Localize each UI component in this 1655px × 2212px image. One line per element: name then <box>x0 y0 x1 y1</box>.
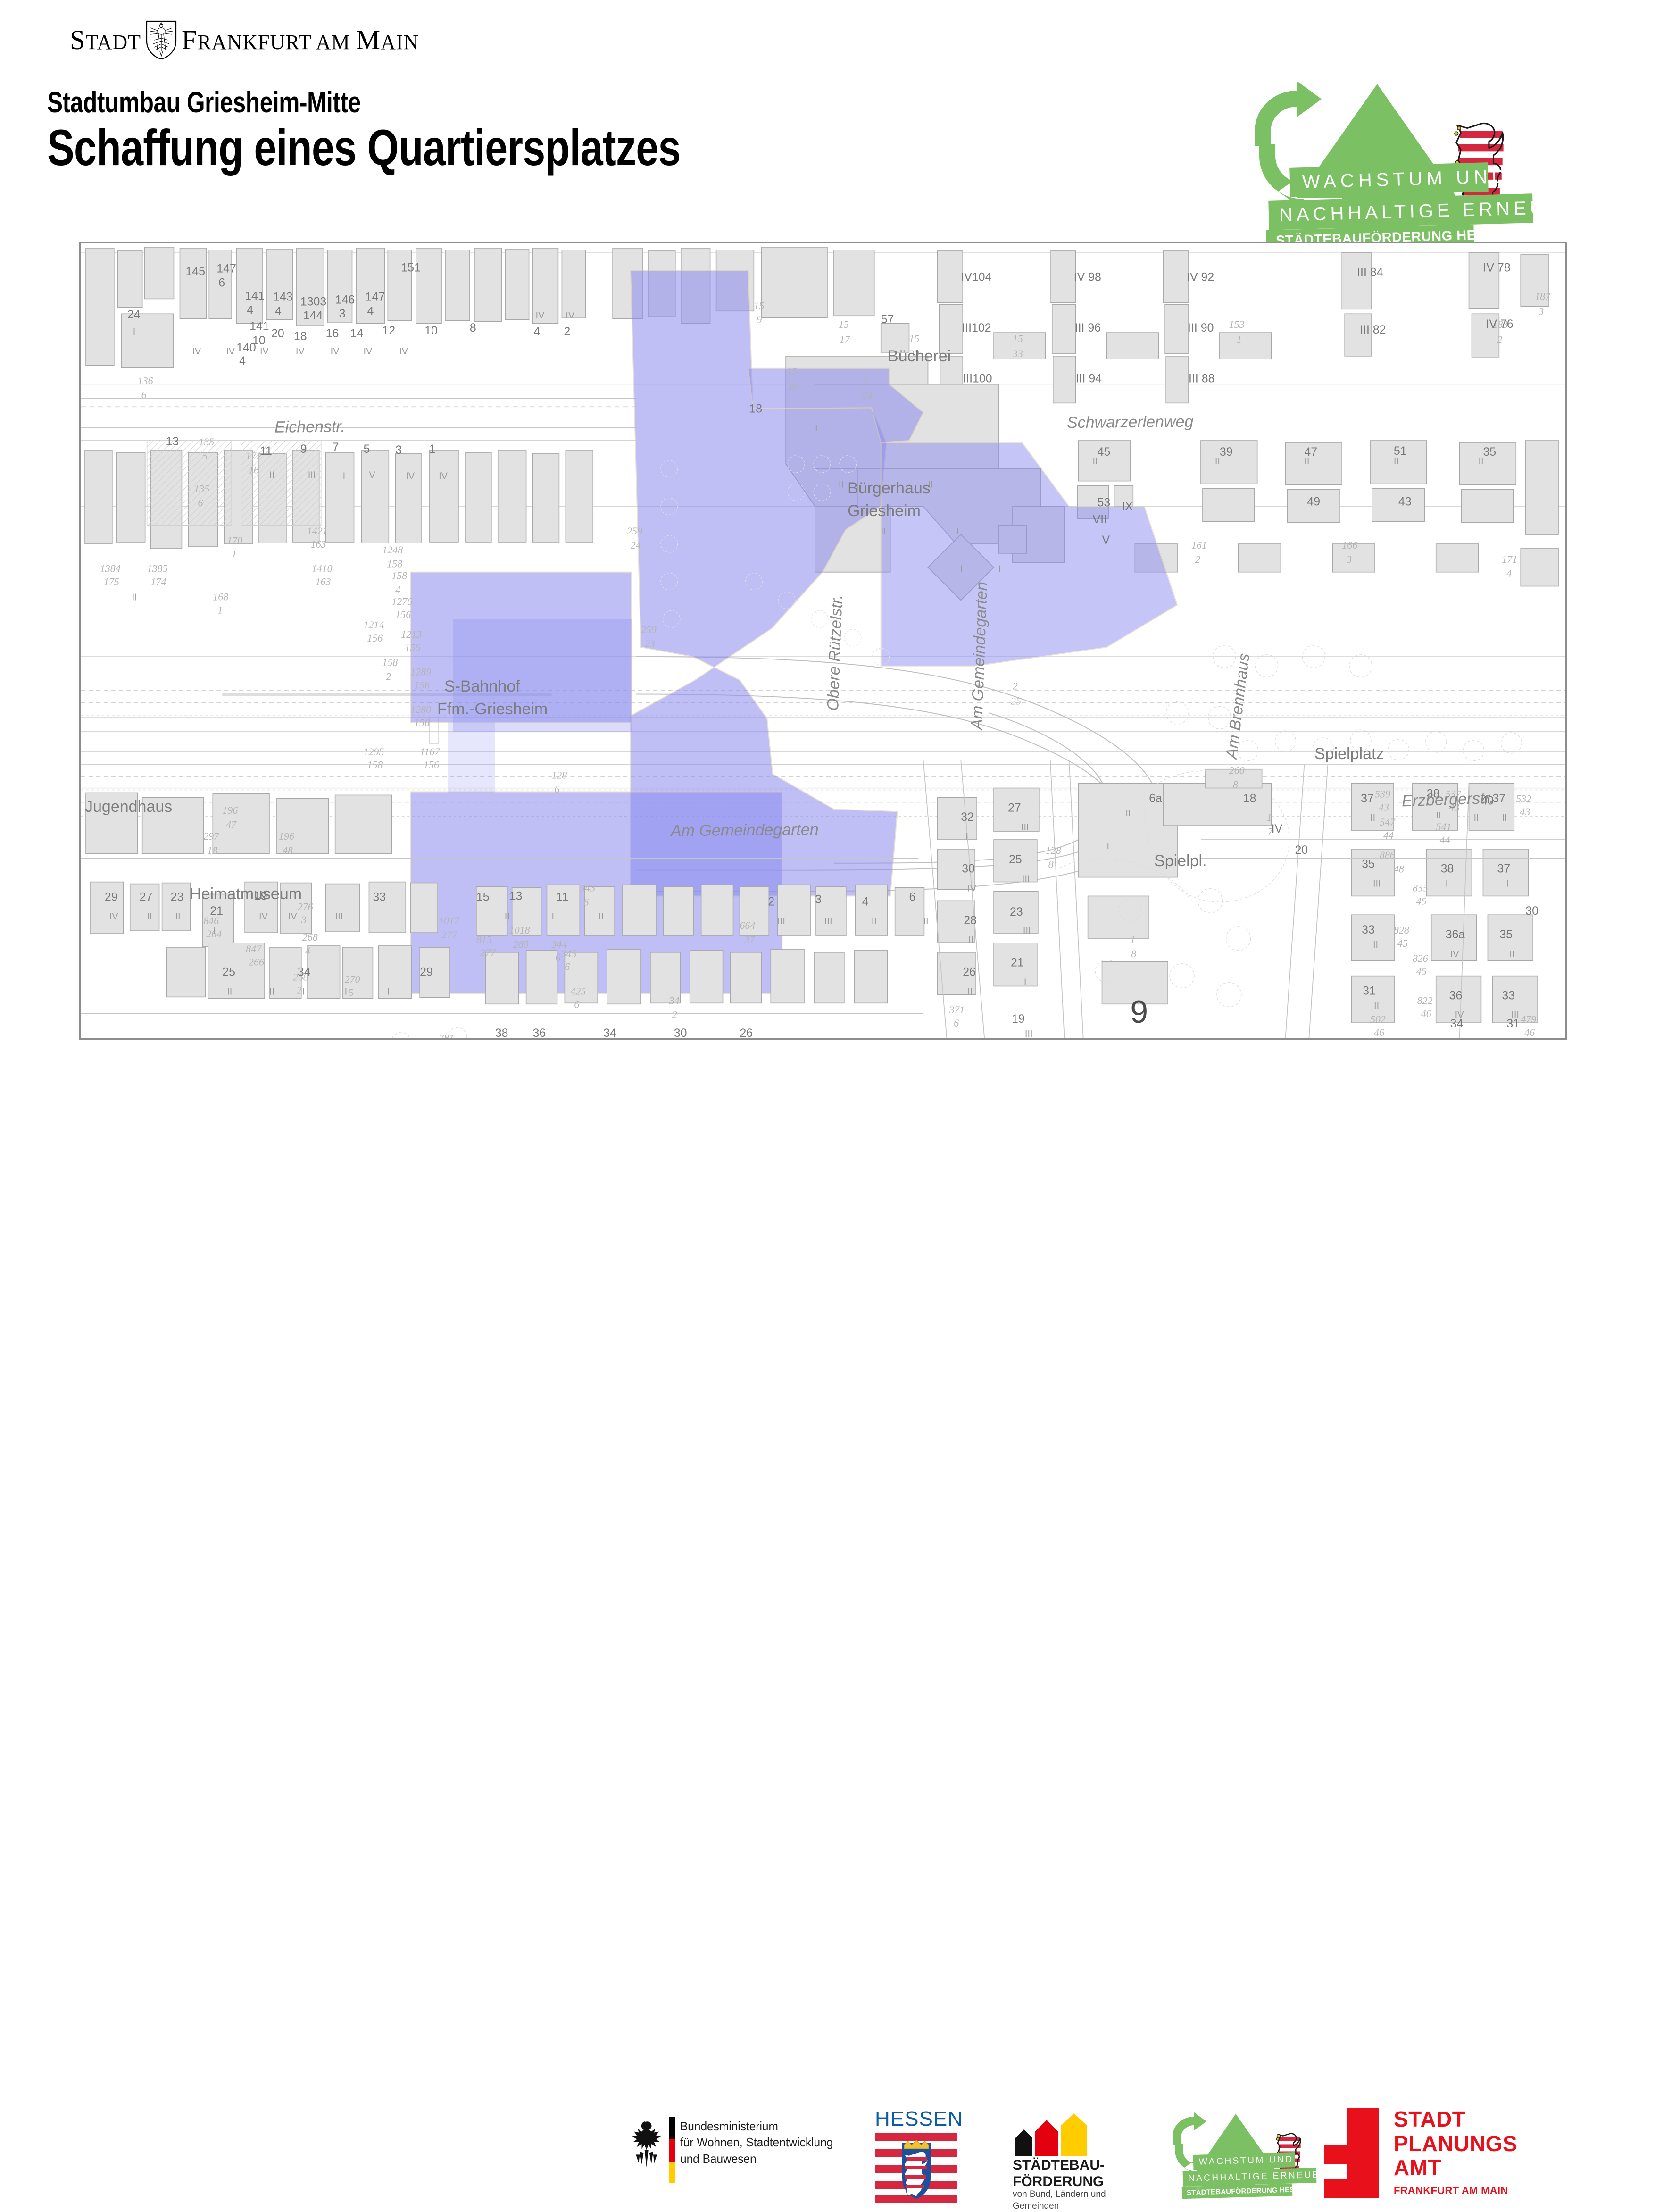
svg-text:2: 2 <box>386 671 391 683</box>
bmwsb-logo: Bundesministerium für Wohnen, Stadtentwi… <box>627 2113 849 2189</box>
svg-text:10: 10 <box>424 324 438 337</box>
svg-text:1167: 1167 <box>420 746 440 758</box>
svg-text:III 82: III 82 <box>1360 323 1386 336</box>
svg-text:259: 259 <box>627 525 642 537</box>
svg-text:270: 270 <box>345 974 360 985</box>
city-logo-word-stadt: STADT <box>70 26 141 54</box>
staedtebau-line1: STÄDTEBAU- <box>1013 2157 1105 2173</box>
svg-text:I: I <box>302 986 305 997</box>
place-label-jugendhaus: Jugendhaus <box>85 798 172 816</box>
svg-text:21: 21 <box>210 904 223 918</box>
svg-text:7: 7 <box>333 441 339 454</box>
svg-text:1295: 1295 <box>363 746 384 758</box>
svg-text:343: 343 <box>579 882 595 893</box>
svg-text:2: 2 <box>1195 553 1200 565</box>
wachstum-band-line1: WACHSTUM UND <box>1289 162 1489 197</box>
svg-text:128: 128 <box>1046 844 1061 856</box>
svg-text:268: 268 <box>302 931 318 943</box>
svg-text:297: 297 <box>203 830 219 842</box>
svg-text:1280: 1280 <box>410 703 431 715</box>
svg-text:168: 168 <box>213 591 228 602</box>
place-label-griesheim: Griesheim <box>848 502 921 520</box>
map-drawing: 1366 1355 17216 1356 1384175 1385174 170… <box>81 243 1565 1038</box>
svg-text:I: I <box>965 832 968 842</box>
svg-text:141: 141 <box>249 320 269 333</box>
svg-text:1017: 1017 <box>439 915 460 927</box>
svg-text:IV: IV <box>536 310 545 321</box>
svg-text:2: 2 <box>672 1009 677 1020</box>
svg-text:4: 4 <box>305 945 310 957</box>
svg-text:502: 502 <box>1370 1013 1386 1025</box>
svg-text:45: 45 <box>1416 966 1427 977</box>
svg-text:IV: IV <box>226 346 235 357</box>
svg-text:2: 2 <box>1013 680 1018 692</box>
svg-text:34: 34 <box>669 994 680 1006</box>
svg-text:I: I <box>956 526 959 537</box>
svg-text:III 96: III 96 <box>1075 321 1101 334</box>
svg-text:187: 187 <box>1535 290 1551 302</box>
svg-text:826: 826 <box>1413 952 1428 964</box>
svg-text:541: 541 <box>1436 821 1452 833</box>
footer-logo-bar: Bundesministerium für Wohnen, Stadtentwi… <box>0 1045 1655 1170</box>
svg-text:3: 3 <box>301 914 307 926</box>
svg-text:8: 8 <box>1131 948 1136 960</box>
spa-line3: AMT <box>1394 2156 1517 2180</box>
svg-text:49: 49 <box>1307 495 1320 508</box>
svg-text:36: 36 <box>1449 989 1463 1002</box>
svg-text:6: 6 <box>909 890 916 903</box>
svg-text:260: 260 <box>1229 765 1245 776</box>
svg-text:18: 18 <box>1243 792 1256 805</box>
svg-text:19: 19 <box>1012 1012 1025 1026</box>
svg-text:15: 15 <box>754 300 764 311</box>
svg-text:26: 26 <box>963 966 976 979</box>
svg-text:835: 835 <box>1413 882 1428 893</box>
svg-text:I: I <box>551 911 554 922</box>
svg-text:16: 16 <box>249 464 259 476</box>
svg-text:37: 37 <box>1361 792 1374 805</box>
svg-text:45: 45 <box>1416 895 1427 907</box>
svg-text:153: 153 <box>1229 318 1245 330</box>
svg-text:143: 143 <box>273 290 293 303</box>
svg-text:II: II <box>839 480 844 490</box>
svg-text:43: 43 <box>1379 801 1389 813</box>
svg-text:II: II <box>1125 808 1131 818</box>
svg-text:IV: IV <box>566 310 575 321</box>
wachstum-small-line1: WACHSTUM UND <box>1193 2152 1296 2170</box>
svg-text:174: 174 <box>151 576 166 588</box>
svg-text:1303: 1303 <box>300 295 326 308</box>
svg-text:II: II <box>968 935 973 945</box>
svg-text:III: III <box>1373 879 1381 889</box>
svg-text:145: 145 <box>185 265 205 278</box>
svg-text:8: 8 <box>1048 859 1054 870</box>
svg-text:151: 151 <box>401 261 421 275</box>
svg-text:166: 166 <box>1342 539 1357 551</box>
svg-text:37: 37 <box>744 934 755 945</box>
svg-text:532: 532 <box>1516 793 1531 804</box>
svg-text:15: 15 <box>787 366 797 377</box>
poster-subtitle: Stadtumbau Griesheim-Mitte <box>47 86 361 119</box>
svg-text:IV: IV <box>260 346 269 357</box>
svg-text:IV: IV <box>259 911 268 922</box>
staedtebau-sub2: Gemeinden <box>1013 2201 1106 2212</box>
svg-text:IV 98: IV 98 <box>1074 271 1101 284</box>
svg-text:6: 6 <box>554 783 559 795</box>
cadastral-map[interactable]: 1366 1355 17216 1356 1384175 1385174 170… <box>79 242 1567 1040</box>
svg-text:III: III <box>1023 926 1031 936</box>
svg-text:4: 4 <box>862 895 869 908</box>
svg-text:9: 9 <box>300 442 307 456</box>
svg-text:9: 9 <box>757 314 762 326</box>
svg-text:17: 17 <box>840 334 850 345</box>
svg-text:33: 33 <box>1502 989 1515 1002</box>
svg-text:6: 6 <box>198 497 203 509</box>
svg-text:I: I <box>998 564 1001 575</box>
svg-text:25: 25 <box>1009 853 1022 866</box>
svg-text:280: 280 <box>513 938 529 950</box>
svg-text:I: I <box>387 986 390 997</box>
german-flag-bar-icon <box>669 2117 675 2183</box>
svg-text:IV104: IV104 <box>961 271 991 284</box>
svg-text:I: I <box>213 926 216 936</box>
svg-text:IV 78: IV 78 <box>1483 261 1510 275</box>
svg-text:24: 24 <box>631 539 641 551</box>
svg-text:1: 1 <box>217 604 223 616</box>
svg-text:II: II <box>881 526 886 537</box>
svg-text:37: 37 <box>1497 862 1510 876</box>
svg-text:1289: 1289 <box>410 666 431 678</box>
svg-text:479: 479 <box>1521 1013 1536 1025</box>
svg-text:5: 5 <box>202 450 208 462</box>
svg-text:II: II <box>1509 949 1514 960</box>
svg-text:1213: 1213 <box>401 628 422 640</box>
svg-text:III: III <box>777 916 785 927</box>
svg-text:43: 43 <box>1520 806 1530 818</box>
svg-text:57: 57 <box>881 313 894 326</box>
svg-text:8: 8 <box>470 321 476 334</box>
svg-text:4: 4 <box>367 304 374 317</box>
svg-text:2: 2 <box>768 895 774 908</box>
svg-text:III 94: III 94 <box>1076 372 1102 385</box>
svg-text:44: 44 <box>1440 834 1450 846</box>
svg-text:23: 23 <box>645 638 655 650</box>
frankfurt-eagle-crest-icon <box>146 20 177 60</box>
svg-text:664: 664 <box>740 919 755 931</box>
svg-text:38: 38 <box>1441 862 1454 876</box>
svg-text:27: 27 <box>1008 801 1021 814</box>
poster-header: STADT FRANKFURT AM MAIN Stadtumbau Gries… <box>0 0 1655 236</box>
svg-text:6: 6 <box>218 276 225 290</box>
svg-text:II: II <box>227 986 232 997</box>
svg-text:156: 156 <box>395 609 411 620</box>
staedtebau-sub1: von Bund, Ländern und <box>1013 2189 1106 2201</box>
svg-text:277: 277 <box>441 929 457 941</box>
svg-text:259: 259 <box>641 624 657 635</box>
svg-text:18: 18 <box>294 330 307 343</box>
svg-text:141: 141 <box>245 289 265 302</box>
svg-text:15: 15 <box>909 333 920 344</box>
svg-text:158: 158 <box>382 657 398 668</box>
bmwsb-line1: Bundesministerium <box>680 2118 833 2134</box>
svg-text:6: 6 <box>141 389 147 401</box>
svg-text:1384: 1384 <box>100 563 121 575</box>
svg-text:48: 48 <box>283 844 293 856</box>
svg-text:20: 20 <box>1295 843 1308 857</box>
svg-text:25: 25 <box>222 966 235 979</box>
svg-text:161: 161 <box>1191 539 1207 551</box>
svg-text:I: I <box>343 471 346 482</box>
svg-text:2: 2 <box>1497 334 1502 345</box>
hessen-logo: HESSEN <box>875 2107 957 2202</box>
svg-text:I: I <box>960 564 963 575</box>
svg-text:27: 27 <box>140 890 153 903</box>
svg-text:38: 38 <box>495 1027 508 1038</box>
svg-text:2: 2 <box>297 984 302 996</box>
svg-text:35: 35 <box>1362 858 1375 871</box>
svg-text:547: 547 <box>1380 816 1396 828</box>
svg-text:46: 46 <box>1524 1027 1535 1038</box>
svg-text:II: II <box>1370 813 1375 823</box>
svg-text:III: III <box>1022 874 1030 885</box>
svg-text:1214: 1214 <box>363 619 384 631</box>
svg-text:4: 4 <box>247 303 253 317</box>
spa-block-mark-icon <box>1321 2108 1382 2198</box>
svg-text:III: III <box>1021 822 1029 833</box>
svg-text:172: 172 <box>246 450 261 462</box>
svg-text:35: 35 <box>1499 928 1513 941</box>
svg-text:3: 3 <box>395 443 402 457</box>
spa-line2: PLANUNGS <box>1394 2132 1517 2156</box>
svg-text:II: II <box>872 916 877 927</box>
svg-text:IV: IV <box>439 471 448 482</box>
svg-text:IV: IV <box>967 883 977 893</box>
svg-text:5: 5 <box>349 986 354 998</box>
svg-text:IV: IV <box>363 346 373 357</box>
street-label-eichenstr: Eichenstr. <box>274 417 345 437</box>
svg-text:IV: IV <box>288 911 298 922</box>
svg-text:II: II <box>269 470 274 481</box>
svg-text:18: 18 <box>207 844 217 856</box>
svg-text:33: 33 <box>1362 923 1375 936</box>
svg-text:I: I <box>133 327 136 337</box>
svg-text:156: 156 <box>424 759 439 771</box>
svg-text:34: 34 <box>298 966 311 979</box>
svg-text:IV 76: IV 76 <box>1486 317 1513 331</box>
svg-text:IV: IV <box>1455 1010 1464 1020</box>
bundesadler-icon <box>627 2113 665 2184</box>
svg-text:20: 20 <box>271 327 284 340</box>
svg-text:1: 1 <box>429 442 436 456</box>
svg-text:136: 136 <box>138 375 153 387</box>
hessen-wordmark: HESSEN <box>875 2107 957 2131</box>
svg-text:IV: IV <box>406 471 415 482</box>
svg-text:24: 24 <box>127 308 141 321</box>
svg-text:29: 29 <box>105 890 118 903</box>
svg-text:781: 781 <box>439 1032 454 1038</box>
svg-text:IV: IV <box>109 911 119 922</box>
svg-text:158: 158 <box>391 570 407 582</box>
svg-text:III: III <box>335 911 343 922</box>
svg-text:15: 15 <box>476 890 490 903</box>
svg-text:I: I <box>1106 841 1109 851</box>
svg-text:1385: 1385 <box>147 563 168 575</box>
place-label-heimatmuseum: Heimatmuseum <box>190 885 302 903</box>
bmwsb-line3: und Bauwesen <box>680 2151 833 2167</box>
spa-line1: STADT <box>1394 2107 1517 2132</box>
svg-text:51: 51 <box>1394 444 1407 458</box>
svg-text:III102: III102 <box>962 321 991 334</box>
svg-text:1421: 1421 <box>307 525 328 537</box>
svg-text:III 90: III 90 <box>1188 321 1214 334</box>
svg-text:48: 48 <box>1394 863 1404 875</box>
svg-text:4: 4 <box>275 304 282 317</box>
svg-text:11: 11 <box>260 444 272 458</box>
svg-text:156: 156 <box>405 642 420 653</box>
svg-text:II: II <box>505 911 510 922</box>
svg-text:II: II <box>1436 810 1441 821</box>
svg-text:1410: 1410 <box>312 563 333 575</box>
svg-text:146: 146 <box>335 293 355 306</box>
svg-text:128: 128 <box>551 769 567 781</box>
svg-text:171: 171 <box>1502 553 1517 565</box>
svg-text:170: 170 <box>227 534 242 546</box>
place-label-s-bahnhof: S-Bahnhof <box>444 677 520 696</box>
svg-text:I: I <box>345 986 348 997</box>
svg-text:6: 6 <box>565 961 570 973</box>
svg-text:37: 37 <box>1492 792 1505 805</box>
svg-text:18: 18 <box>749 402 762 415</box>
svg-text:31: 31 <box>1363 984 1376 997</box>
stadtplanungsamt-logo: STADT PLANUNGS AMT FRANKFURT AM MAIN <box>1321 2106 1566 2201</box>
svg-text:32: 32 <box>961 810 974 824</box>
spa-subtitle: FRANKFURT AM MAIN <box>1394 2185 1508 2197</box>
staedtebaufoerderung-logo: STÄDTEBAU- FÖRDERUNG von Bund, Ländern u… <box>1012 2113 1167 2198</box>
bmwsb-text: Bundesministerium für Wohnen, Stadtentwi… <box>680 2118 833 2167</box>
place-label-spielplatz: Spielplatz <box>1314 745 1384 763</box>
svg-text:II: II <box>967 986 973 997</box>
map-marker-9: 9 <box>1130 994 1148 1030</box>
svg-text:147: 147 <box>216 262 236 275</box>
svg-text:1018: 1018 <box>509 924 530 936</box>
svg-text:196: 196 <box>222 804 238 816</box>
svg-text:13: 13 <box>509 889 523 902</box>
svg-text:33: 33 <box>1012 348 1023 359</box>
svg-text:144: 144 <box>303 309 323 322</box>
place-label-buergerhaus: Bürgerhaus <box>848 479 931 498</box>
svg-text:III: III <box>1511 1010 1519 1020</box>
svg-text:4: 4 <box>239 354 246 367</box>
svg-text:4: 4 <box>534 325 541 338</box>
svg-text:847: 847 <box>246 943 262 955</box>
svg-text:147: 147 <box>365 290 385 303</box>
svg-text:11: 11 <box>556 890 568 903</box>
svg-text:13: 13 <box>166 435 179 448</box>
svg-text:828: 828 <box>1394 924 1409 936</box>
svg-text:345: 345 <box>560 948 576 960</box>
three-houses-icon <box>1013 2113 1093 2156</box>
svg-text:6a: 6a <box>1149 792 1162 805</box>
svg-text:21: 21 <box>1011 956 1024 969</box>
svg-text:36: 36 <box>533 1027 546 1038</box>
svg-text:1276: 1276 <box>391 595 412 607</box>
svg-text:III100: III100 <box>963 372 992 385</box>
svg-text:45: 45 <box>1098 445 1111 459</box>
street-label-erzbergerstr: Erzbergerstr. <box>1401 789 1494 811</box>
svg-text:30: 30 <box>1525 904 1539 918</box>
svg-text:24: 24 <box>862 390 873 401</box>
svg-text:II: II <box>132 592 137 602</box>
svg-text:3: 3 <box>815 893 822 906</box>
svg-text:6: 6 <box>954 1017 959 1029</box>
svg-text:II: II <box>1373 940 1378 950</box>
svg-text:II: II <box>923 916 928 927</box>
svg-text:34: 34 <box>603 1027 616 1038</box>
svg-text:II: II <box>1502 813 1507 823</box>
svg-text:2: 2 <box>564 325 570 338</box>
svg-text:3: 3 <box>1538 305 1544 317</box>
svg-text:140: 140 <box>236 341 256 354</box>
place-label-buecherei: Bücherei <box>888 347 951 366</box>
svg-text:6: 6 <box>555 952 560 963</box>
svg-text:53: 53 <box>1098 496 1111 509</box>
svg-text:4: 4 <box>395 584 400 595</box>
svg-text:158: 158 <box>387 558 402 570</box>
svg-text:IV: IV <box>192 346 201 357</box>
svg-text:I: I <box>815 423 818 434</box>
svg-text:425: 425 <box>570 985 586 997</box>
svg-text:IV: IV <box>1450 949 1460 960</box>
svg-text:539: 539 <box>1375 788 1390 800</box>
svg-text:6: 6 <box>583 896 589 908</box>
svg-text:1: 1 <box>1130 934 1135 945</box>
svg-text:III 88: III 88 <box>1189 372 1214 385</box>
bmwsb-line2: für Wohnen, Stadtentwicklung <box>680 2134 833 2150</box>
svg-text:IX: IX <box>1122 500 1133 513</box>
svg-text:I: I <box>1446 879 1448 889</box>
svg-text:15: 15 <box>1013 333 1023 344</box>
svg-text:III 84: III 84 <box>1357 266 1383 279</box>
svg-text:II: II <box>1478 456 1483 467</box>
svg-text:1: 1 <box>1267 811 1272 823</box>
svg-text:135: 135 <box>194 483 209 495</box>
svg-text:815: 815 <box>476 934 492 945</box>
svg-text:V: V <box>369 470 375 481</box>
svg-text:II: II <box>1215 456 1220 467</box>
svg-text:266: 266 <box>249 956 264 968</box>
svg-text:II: II <box>1304 456 1309 467</box>
svg-text:46: 46 <box>1374 1027 1384 1038</box>
place-label-ffm-griesheim: Ffm.-Griesheim <box>437 700 548 718</box>
svg-text:15: 15 <box>839 318 849 330</box>
svg-text:6: 6 <box>574 998 579 1010</box>
svg-text:II: II <box>1394 456 1399 467</box>
place-label-spielpl: Spielpl. <box>1154 852 1207 870</box>
svg-text:II: II <box>269 986 274 997</box>
street-label-am-gemeindegarten: Am Gemeindegarten <box>671 821 819 841</box>
svg-text:36a: 36a <box>1446 928 1465 941</box>
svg-text:III: III <box>824 916 832 927</box>
svg-text:IV: IV <box>296 346 305 357</box>
svg-text:III: III <box>1025 1029 1033 1038</box>
svg-text:14: 14 <box>350 327 364 340</box>
spa-wordmark: STADT PLANUNGS AMT <box>1394 2107 1517 2180</box>
svg-text:25: 25 <box>1011 695 1021 707</box>
svg-text:4: 4 <box>1506 568 1512 579</box>
svg-text:III: III <box>308 470 316 481</box>
svg-text:3: 3 <box>339 307 346 320</box>
city-logo-word-frankfurt: FRANKFURT AM MAIN <box>182 26 419 54</box>
